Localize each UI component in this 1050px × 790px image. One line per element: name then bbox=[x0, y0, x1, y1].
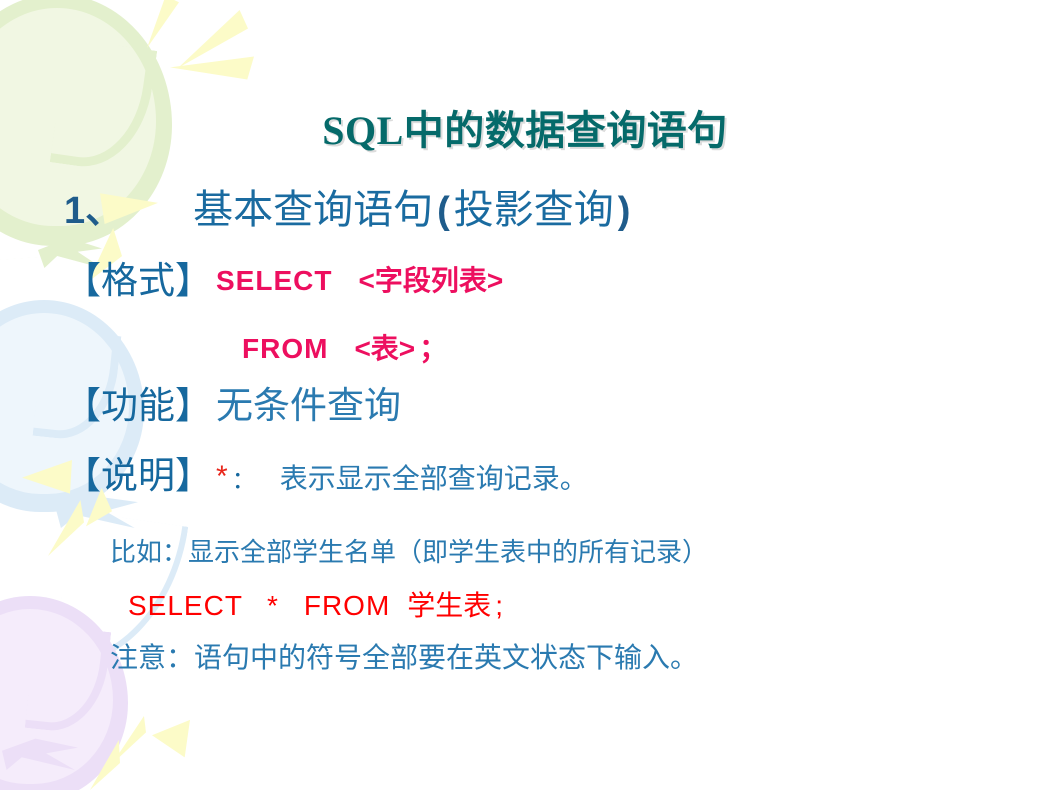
function-text: 无条件查询 bbox=[216, 386, 401, 427]
blue-balloon-knot bbox=[56, 494, 138, 528]
example-sql-terminator: ; bbox=[495, 590, 503, 621]
format-label: 【格式】 bbox=[64, 261, 212, 302]
slide-canvas: SQL中的数据查询语句 1、 基本查询语句 ( 投影查询 ) 【格式】 SELE… bbox=[0, 0, 1050, 790]
example-note: 注意：语句中的符号全部要在英文状态下输入。 bbox=[110, 645, 698, 673]
function-label: 【功能】 bbox=[64, 386, 212, 427]
section-heading-number: 1、 bbox=[64, 190, 123, 232]
sparkle-ray-icon bbox=[48, 500, 84, 556]
example-sql-table-name: 学生表 bbox=[407, 591, 491, 622]
format-keyword-from: FROM bbox=[242, 333, 328, 364]
format-field-list-arg: <字段列表> bbox=[358, 265, 503, 296]
example-sql-from: FROM bbox=[304, 590, 390, 621]
description-text: 表示显示全部查询记录。 bbox=[280, 464, 588, 495]
format-from-line: FROM <表> ； bbox=[242, 335, 447, 363]
format-table-arg: <表> bbox=[354, 333, 415, 364]
example-sql-statement: SELECT * FROM 学生表 ; bbox=[128, 592, 503, 621]
description-star-icon: * bbox=[216, 460, 228, 493]
purple-balloon-knot bbox=[2, 738, 78, 770]
section-heading-text: 基本查询语句 bbox=[193, 187, 433, 232]
purple-balloon-decoration bbox=[0, 596, 128, 790]
description-colon: ： bbox=[232, 468, 256, 494]
section-heading-paren-open: ( bbox=[437, 190, 450, 232]
sparkle-ray-icon bbox=[112, 716, 146, 764]
description-line: 【说明】 * ： 表示显示全部查询记录。 bbox=[64, 458, 588, 495]
section-heading-sub: 投影查询 bbox=[454, 187, 614, 232]
sparkle-ray-icon bbox=[152, 718, 190, 766]
purple-balloon-string bbox=[0, 756, 52, 790]
section-heading-paren-close: ) bbox=[618, 190, 631, 232]
example-intro: 比如：显示全部学生名单（即学生表中的所有记录） bbox=[110, 540, 708, 566]
sparkle-ray-icon bbox=[147, 0, 179, 48]
page-title: SQL中的数据查询语句 bbox=[0, 98, 1050, 156]
section-heading: 1、 基本查询语句 ( 投影查询 ) bbox=[64, 190, 630, 230]
sparkle-ray-icon bbox=[90, 740, 120, 790]
format-terminator: ； bbox=[419, 333, 447, 364]
purple-balloon-highlight bbox=[25, 624, 111, 735]
format-keyword-select: SELECT bbox=[216, 265, 332, 296]
description-label: 【说明】 bbox=[64, 456, 212, 497]
sparkle-ray-icon bbox=[178, 10, 248, 68]
function-line: 【功能】 无条件查询 bbox=[64, 388, 401, 425]
example-sql-star-icon: * bbox=[267, 590, 278, 621]
format-line: 【格式】 SELECT <字段列表> bbox=[64, 263, 503, 300]
example-sql-select: SELECT bbox=[128, 590, 243, 621]
sparkle-ray-icon bbox=[170, 52, 254, 84]
